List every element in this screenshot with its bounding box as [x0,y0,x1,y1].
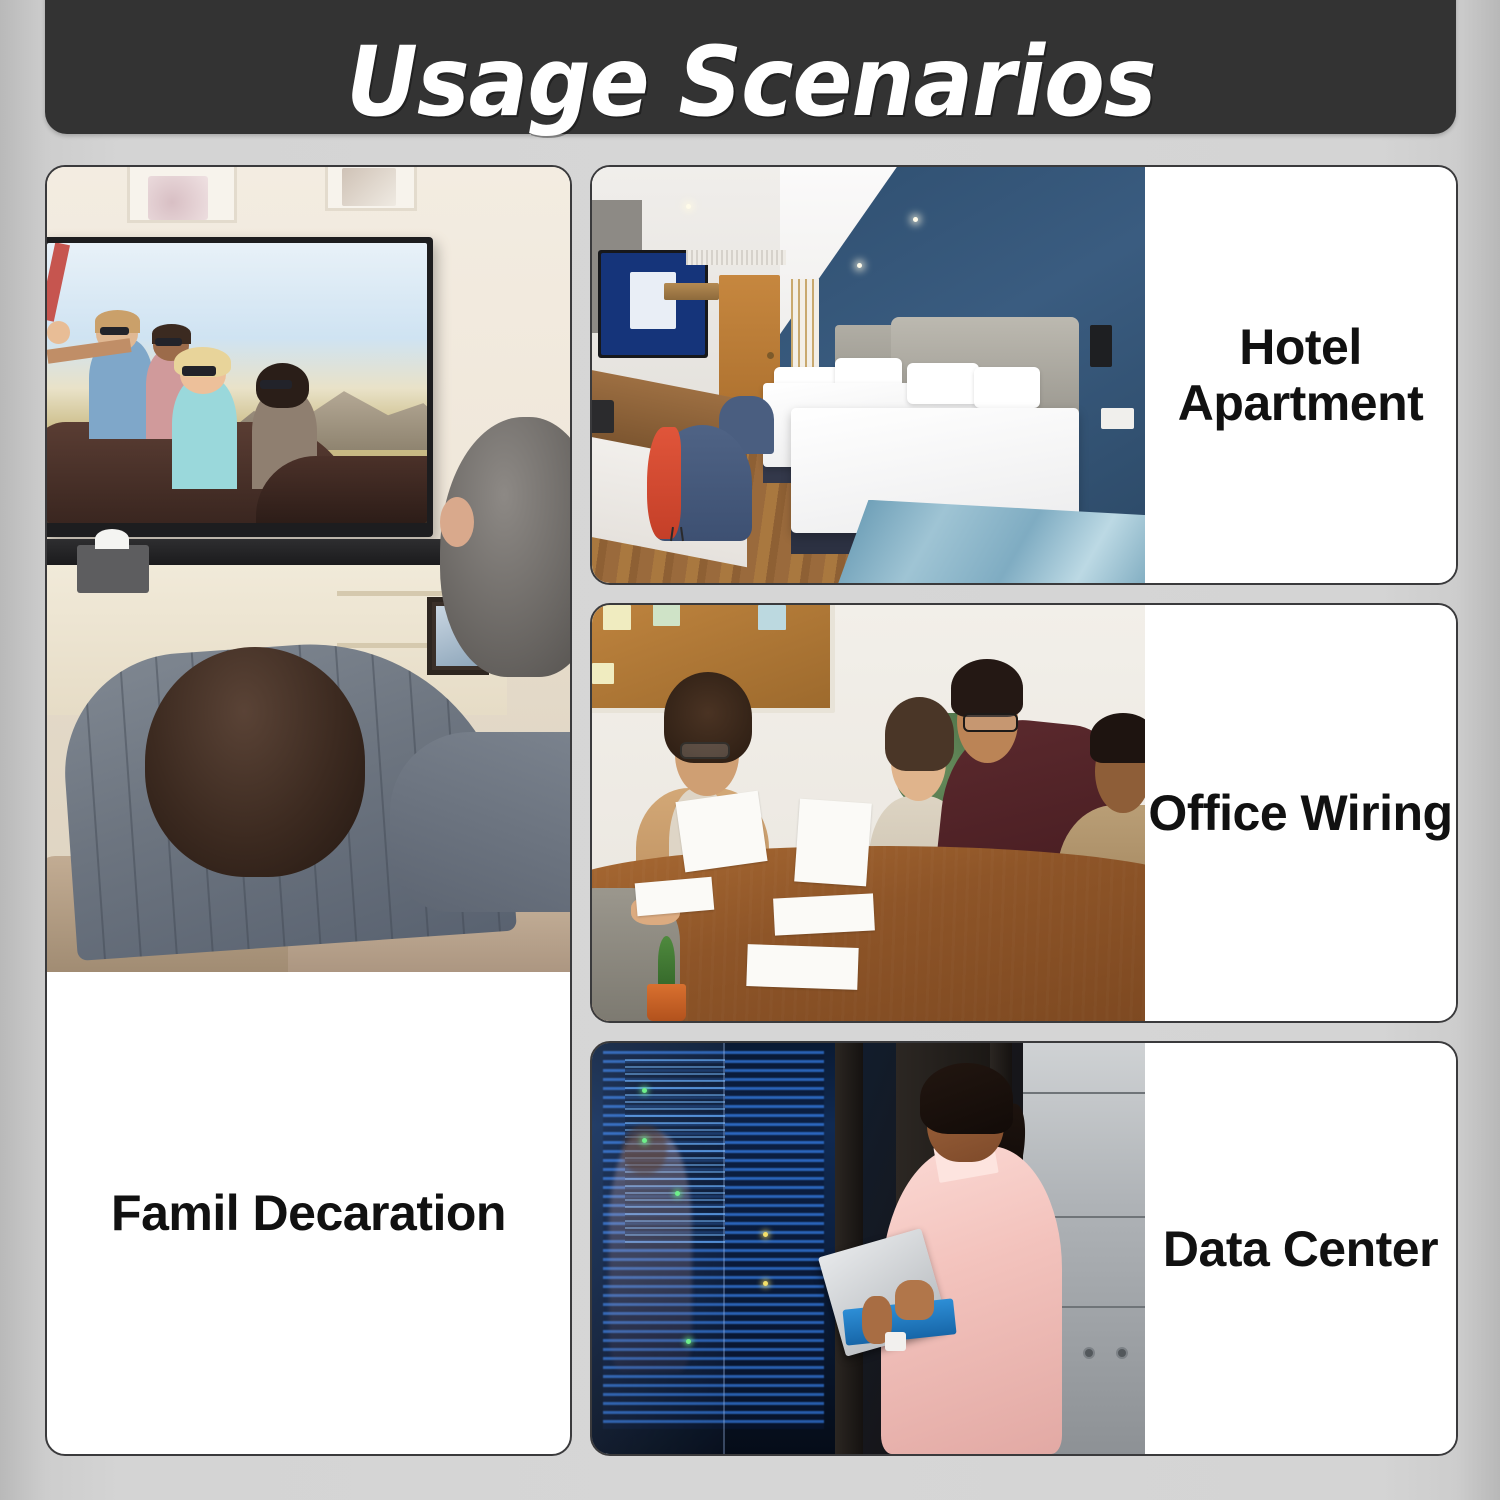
tv-content-raised-hand [47,321,70,343]
tv-content-raised-arm [47,243,70,322]
scenario-card-hotel-apartment[interactable]: Hotel Apartment [590,165,1458,585]
viewer-left-arm [390,732,570,912]
chair-leg-1 [670,527,674,541]
tv-content-person-2-sunglasses [155,338,182,346]
scenario-card-family-decoration[interactable]: Famil Decaration [45,165,572,1456]
wall-power-socket [1101,408,1134,429]
status-led-green-4 [686,1339,691,1344]
data-center-label: Data Center [1163,1221,1438,1277]
sticky-note-3 [758,605,786,630]
tablet-or-paper-held [794,798,872,886]
wall-picture-frame-2 [325,167,417,211]
chart-printout-1 [774,894,875,937]
hotel-apartment-label-line2: Apartment [1178,375,1424,431]
tv-content-person-3-sunglasses [182,366,216,376]
pillow-4 [974,367,1040,409]
data-center-technician [857,1059,1089,1454]
viewer-left-head [145,647,365,877]
technician-typing-hand [895,1280,934,1319]
printed-document-held [676,791,768,873]
sticky-note-1 [603,605,631,630]
scenario-card-office-wiring[interactable]: Office Wiring [590,603,1458,1023]
status-led-green-2 [642,1138,647,1143]
colleague-b-hair [885,697,954,772]
hotel-apartment-label: Hotel Apartment [1178,319,1424,431]
technician-hair [920,1063,1013,1134]
tv-content-person-3-body [172,377,237,489]
technician-wristwatch [885,1332,906,1352]
tissue-box [77,545,149,593]
hotel-wall-tv [598,250,709,358]
scenario-card-data-center[interactable]: Data Center [590,1041,1458,1456]
sticky-note-2 [653,605,681,626]
electric-kettle [592,400,614,433]
chart-printout-3 [635,876,715,916]
hotel-tv-screen [601,253,706,355]
office-wiring-label: Office Wiring [1148,785,1452,841]
wall-picture-frame-1 [127,167,237,223]
desk-chair-front [653,425,753,541]
ceiling-downlight-2 [913,217,918,222]
page-title: Usage Scenarios [346,34,1155,130]
tv-screen [47,243,427,523]
status-led-green-3 [675,1191,680,1196]
tv-content-person-4-sunglasses [260,380,292,389]
pillow-3 [907,363,979,405]
hotel-apartment-caption: Hotel Apartment [1145,167,1456,583]
family-decoration-label: Famil Decaration [111,1185,506,1241]
data-center-caption: Data Center [1145,1043,1456,1454]
air-conditioning-vent [686,250,786,265]
colleague-c-eyeglasses [963,713,1018,732]
data-center-scene [592,1043,1145,1454]
family-decoration-photo [47,167,570,972]
tv-content-person-1-sunglasses [100,327,129,335]
bedside-control-panel [1090,325,1112,367]
cactus-body [658,936,675,988]
tv-content-car-hood [256,456,427,523]
sticky-note-4 [592,663,614,684]
status-led-green-1 [642,1088,647,1093]
living-room-scene [47,167,570,972]
laptop-center-screen [592,605,596,609]
colleague-c-hair [951,659,1023,717]
family-decoration-caption: Famil Decaration [47,972,570,1454]
data-center-photo [592,1043,1145,1454]
hotel-apartment-photo [592,167,1145,583]
chair-leg-2 [680,527,684,541]
colleague-a-eyeglasses [680,742,730,759]
office-wiring-caption: Office Wiring [1145,605,1456,1021]
viewer-right-ear [440,497,474,547]
colleague-d-hair [1090,713,1145,763]
cactus-plant [647,938,686,1021]
cactus-pot [647,984,686,1021]
chart-printout-2 [746,944,858,989]
glass-reflection-head [622,1125,666,1174]
office-wiring-photo [592,605,1145,1021]
page-header-banner: Usage Scenarios [45,0,1456,134]
office-meeting-scene [592,605,1145,1021]
television [47,237,433,537]
coat-rack [664,283,719,300]
hotel-room-scene [592,167,1145,583]
hotel-apartment-label-line1: Hotel [1239,319,1362,375]
